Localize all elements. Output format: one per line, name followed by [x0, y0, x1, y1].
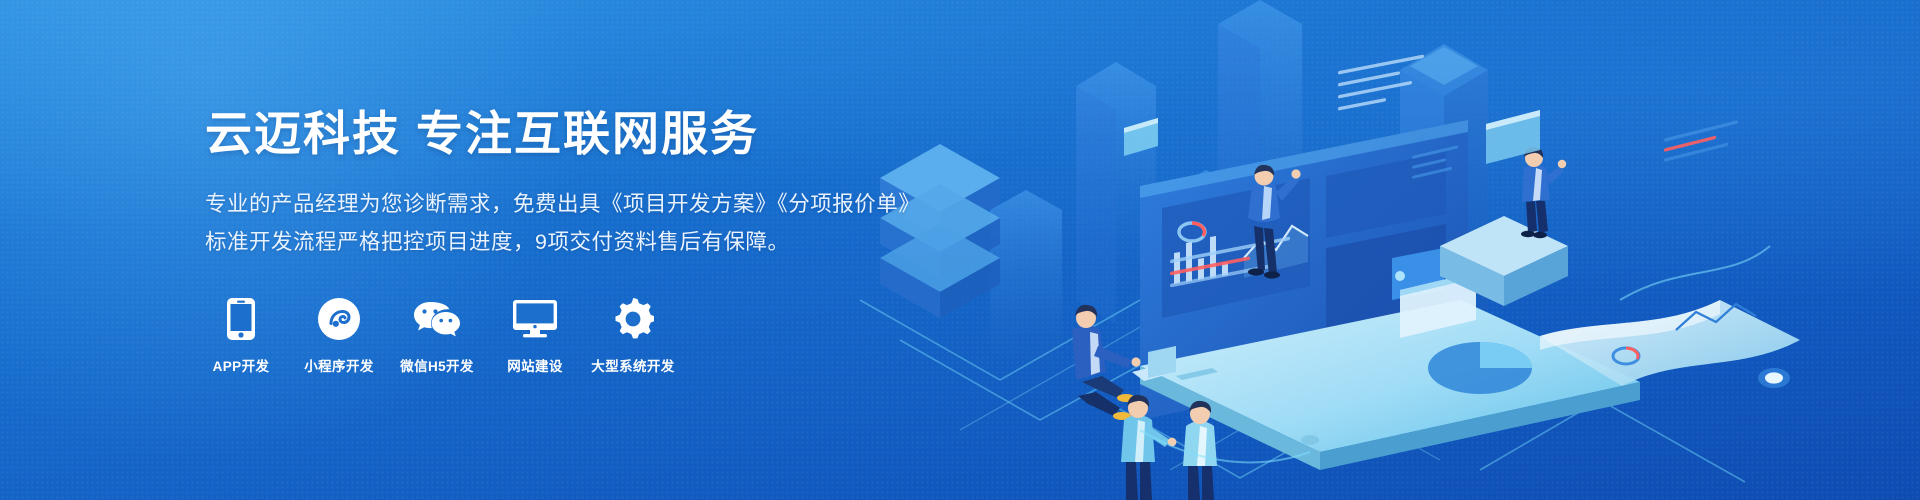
- person-on-cube: [1440, 110, 1568, 306]
- standing-person: [1248, 165, 1301, 279]
- hero-content: 云迈科技 专注互联网服务 专业的产品经理为您诊断需求，免费出具《项目开发方案》《…: [205, 0, 965, 500]
- hero-banner: 云迈科技 专注互联网服务 专业的产品经理为您诊断需求，免费出具《项目开发方案》《…: [0, 0, 1920, 500]
- ground-wireframe: [860, 300, 1745, 482]
- service-list: APP开发 小程序开发: [205, 296, 965, 375]
- service-item-mini-program[interactable]: 小程序开发: [303, 296, 375, 375]
- dashboard-progress-rows: [1170, 237, 1290, 288]
- skyscrapers: [990, 0, 1488, 380]
- mini-program-icon: [318, 296, 360, 342]
- dashboard-text-rows: [1338, 54, 1424, 110]
- connection-paths: [1140, 246, 1770, 462]
- service-label: 大型系统开发: [591, 355, 674, 375]
- service-label: APP开发: [213, 355, 270, 375]
- service-item-large-system[interactable]: 大型系统开发: [597, 296, 669, 375]
- mobile-phone-icon: [227, 296, 255, 342]
- service-item-wechat-h5[interactable]: 微信H5开发: [401, 296, 473, 375]
- ribbon-clock: [1758, 368, 1790, 388]
- service-label: 微信H5开发: [400, 355, 474, 375]
- phone-platform: [1140, 300, 1640, 470]
- wechat-icon: [413, 296, 461, 342]
- gear-icon: [612, 296, 654, 342]
- dashboard-bars: [1174, 236, 1228, 284]
- floating-badge: [1124, 118, 1158, 156]
- hero-subtitle: 专业的产品经理为您诊断需求，免费出具《项目开发方案》《分项报价单》 标准开发流程…: [205, 186, 965, 261]
- service-label: 小程序开发: [304, 355, 374, 375]
- page-title: 云迈科技 专注互联网服务: [205, 107, 965, 161]
- curved-data-ribbon: [1540, 120, 1800, 388]
- ribbon-chart: [1613, 120, 1756, 364]
- seated-person-with-laptop: [1072, 305, 1176, 420]
- floating-data-card: [1400, 145, 1476, 338]
- dashboard-donut: [1179, 223, 1205, 241]
- dashboard-screen: [1140, 54, 1468, 420]
- service-item-app[interactable]: APP开发: [205, 296, 277, 375]
- subtitle-line-2: 标准开发流程严格把控项目进度，9项交付资料售后有保障。: [205, 224, 965, 262]
- subtitle-line-1: 专业的产品经理为您诊断需求，免费出具《项目开发方案》《分项报价单》: [205, 186, 965, 224]
- service-label: 网站建设: [507, 355, 563, 375]
- two-people-front: [1121, 395, 1217, 500]
- service-item-website[interactable]: 网站建设: [499, 296, 571, 375]
- platform-pie: [1428, 342, 1532, 394]
- monitor-icon: [513, 296, 557, 342]
- ground-grid: [960, 310, 1440, 470]
- hero-illustration: [840, 0, 1920, 500]
